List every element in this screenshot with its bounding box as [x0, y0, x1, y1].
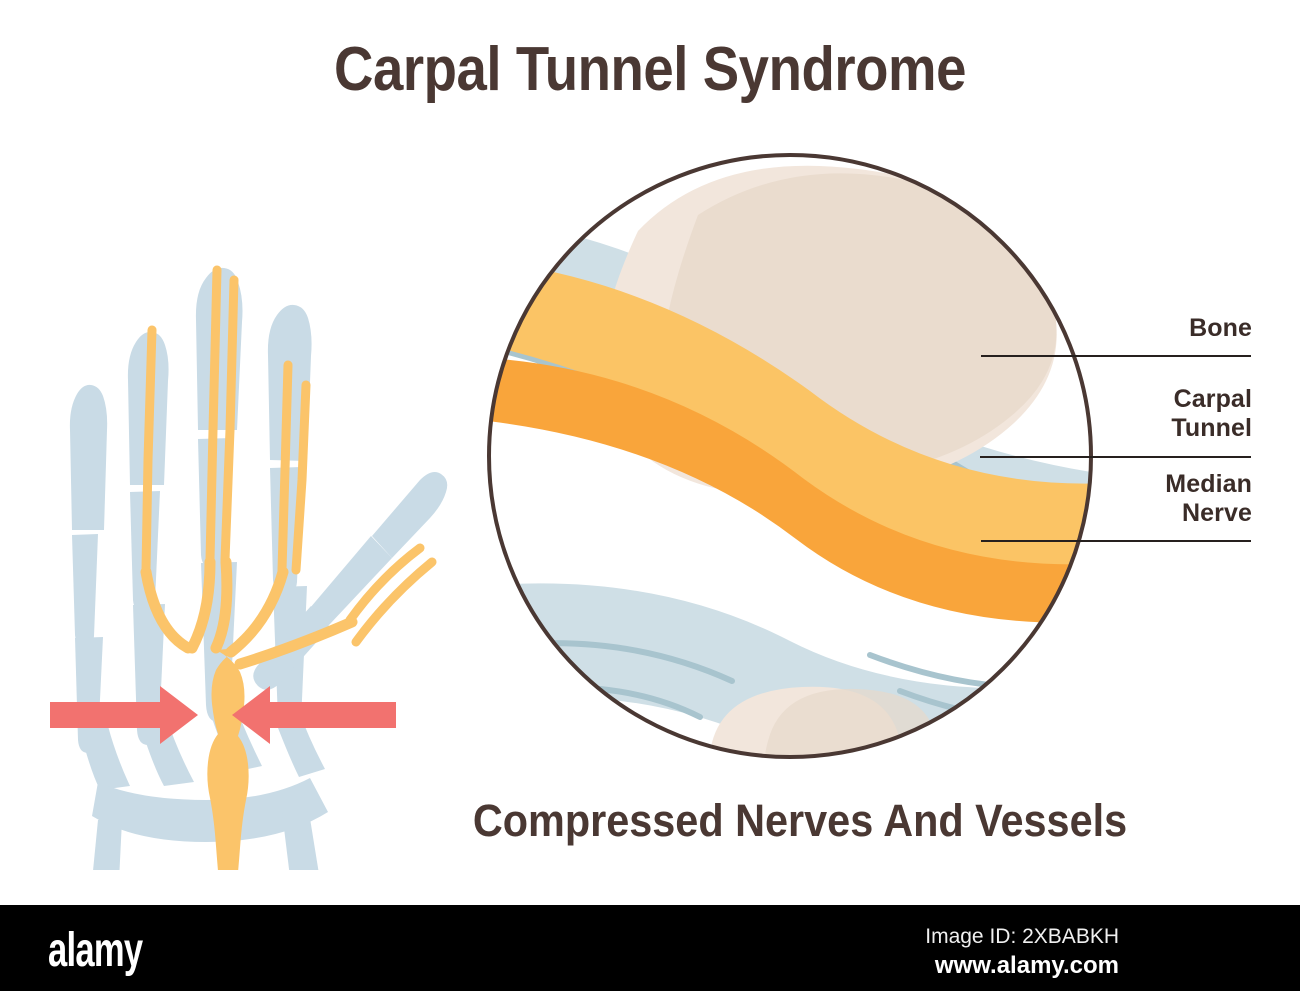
- compression-arrow-left: [50, 686, 198, 744]
- label-median-line2: Nerve: [1060, 499, 1252, 528]
- nerve-finger-4-branch: [282, 365, 288, 570]
- bone-finger-1-mid: [72, 534, 98, 646]
- compression-arrow-right: [232, 686, 396, 744]
- hand-skeleton-figure: [20, 130, 450, 870]
- nerve-finger-2-branch: [146, 330, 152, 570]
- label-carpal-line2: Tunnel: [1060, 414, 1252, 443]
- label-carpal-tunnel: Carpal Tunnel: [1060, 385, 1252, 442]
- label-median-nerve: Median Nerve: [1060, 470, 1252, 527]
- bone-finger-1: [70, 385, 107, 530]
- leader-line-carpal-tunnel: [980, 456, 1251, 458]
- wrist-cross-section-figure: [470, 135, 1110, 785]
- alamy-logo: alamy: [48, 923, 142, 978]
- label-median-line1: Median: [1060, 470, 1252, 499]
- bone-thumb-distal: [372, 472, 447, 558]
- leader-line-bone: [981, 355, 1251, 357]
- page-title: Carpal Tunnel Syndrome: [78, 34, 1222, 105]
- figure-caption: Compressed Nerves And Vessels: [450, 795, 1149, 847]
- label-bone: Bone: [1060, 314, 1252, 343]
- watermark-bar: alamy Image ID: 2XBABKH www.alamy.com: [0, 905, 1300, 991]
- bone-radius: [86, 820, 122, 870]
- image-id-text: Image ID: 2XBABKH: [925, 925, 1119, 949]
- bone-ulna: [282, 806, 330, 870]
- label-carpal-line1: Carpal: [1060, 385, 1252, 414]
- label-bone-line1: Bone: [1060, 314, 1252, 343]
- alamy-url-text: www.alamy.com: [935, 952, 1119, 980]
- leader-line-median-nerve: [981, 540, 1251, 542]
- illustration-page: Carpal Tunnel Syndrome: [0, 0, 1300, 991]
